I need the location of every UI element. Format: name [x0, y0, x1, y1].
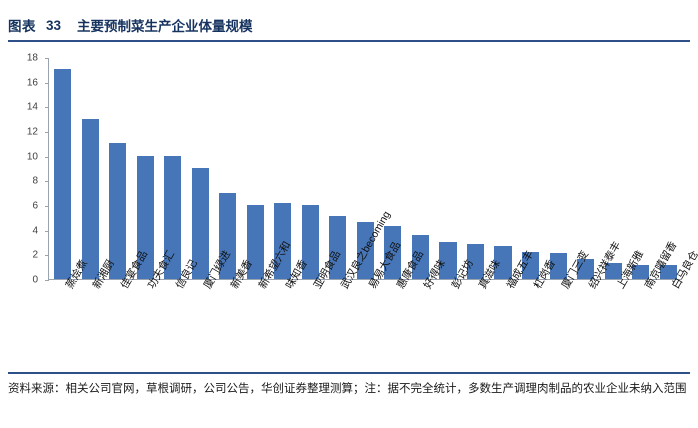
bar-slot	[49, 58, 77, 279]
x-label-slot: 福成五丰	[489, 282, 517, 362]
bar-slot	[104, 58, 132, 279]
bar-slot	[407, 58, 435, 279]
x-label-slot: 功夫食汇	[131, 282, 159, 362]
y-tick-mark	[45, 255, 49, 256]
y-tick-label: 4	[32, 225, 38, 236]
y-tick-mark	[45, 231, 49, 232]
x-label-slot: 佳宴食品	[103, 282, 131, 362]
bar-slot	[517, 58, 545, 279]
y-tick-mark	[45, 107, 49, 108]
x-label-slot: 厦门三变	[544, 282, 572, 362]
y-tick-label: 16	[27, 77, 38, 88]
bar-slot	[544, 58, 572, 279]
y-axis-labels: 024681012141618	[8, 58, 42, 280]
bar	[109, 143, 126, 279]
y-tick-mark	[45, 280, 49, 281]
bar-slot	[214, 58, 242, 279]
bar-slot	[462, 58, 490, 279]
x-label-slot: 上海新雅	[599, 282, 627, 362]
x-label-slot: 真滋味	[461, 282, 489, 362]
chart-header: 图表 33 主要预制菜生产企业体量规模	[8, 10, 690, 42]
x-label-slot: 味知香	[269, 282, 297, 362]
y-tick-label: 12	[27, 127, 38, 138]
y-tick-mark	[45, 58, 49, 59]
x-label-slot: 新湘厨	[76, 282, 104, 362]
y-tick-label: 6	[32, 201, 38, 212]
chart-area: 024681012141618 蒸烩煮新湘厨佳宴食品功夫食汇信良记厦门绿进新美香…	[8, 46, 690, 366]
x-axis-labels: 蒸烩煮新湘厨佳宴食品功夫食汇信良记厦门绿进新美香新希望六和味知香亚明食品武汉良之…	[48, 282, 682, 362]
x-label-slot: 南京嘻留香	[627, 282, 655, 362]
y-tick-label: 0	[32, 275, 38, 286]
bar-slot	[132, 58, 160, 279]
bar-slot	[572, 58, 600, 279]
bar	[82, 119, 99, 279]
y-tick-label: 18	[27, 53, 38, 64]
bar-slot	[77, 58, 105, 279]
x-label-slot: 亚明食品	[296, 282, 324, 362]
x-label-slot: 武汉良之becoming	[324, 282, 352, 362]
chart-footer: 资料来源：相关公司官网，草根调研，公司公告，华创证券整理测算；注：据不完全统计，…	[8, 372, 690, 398]
y-tick-label: 2	[32, 250, 38, 261]
bar-slot	[242, 58, 270, 279]
bar-slot	[434, 58, 462, 279]
y-tick-mark	[45, 181, 49, 182]
x-label-slot: 惠康食品	[379, 282, 407, 362]
y-tick-label: 8	[32, 176, 38, 187]
bar	[54, 69, 71, 279]
x-label-slot: 白马良仓	[654, 282, 682, 362]
source-note: 资料来源：相关公司官网，草根调研，公司公告，华创证券整理测算；注：据不完全统计，…	[8, 381, 690, 398]
x-label-slot: 厦门绿进	[186, 282, 214, 362]
x-label-slot: 蒸烩煮	[48, 282, 76, 362]
x-label-slot: 杠岗香	[517, 282, 545, 362]
header-number: 33	[46, 18, 61, 33]
page-title: 主要预制菜生产企业体量规模	[77, 15, 253, 35]
bar-slot	[187, 58, 215, 279]
header-tag: 图表	[8, 15, 36, 35]
x-label-slot: 好得味	[406, 282, 434, 362]
x-label-slot: 绍兴祥泰丰	[572, 282, 600, 362]
chart-page: 图表 33 主要预制菜生产企业体量规模 024681012141618 蒸烩煮新…	[0, 0, 698, 428]
x-label-slot: 新希望六和	[241, 282, 269, 362]
x-label-slot: 新美香	[213, 282, 241, 362]
bar-slot	[297, 58, 325, 279]
y-tick-mark	[45, 206, 49, 207]
bar-slot	[159, 58, 187, 279]
x-label-slot: 信良记	[158, 282, 186, 362]
bar-slot	[324, 58, 352, 279]
bar-slot	[489, 58, 517, 279]
bar-slot	[627, 58, 655, 279]
x-label-slot: 彭记坊	[434, 282, 462, 362]
y-tick-mark	[45, 83, 49, 84]
y-tick-mark	[45, 157, 49, 158]
y-tick-label: 14	[27, 102, 38, 113]
y-tick-label: 10	[27, 151, 38, 162]
y-tick-mark	[45, 132, 49, 133]
x-label-slot: 易易大食品	[351, 282, 379, 362]
